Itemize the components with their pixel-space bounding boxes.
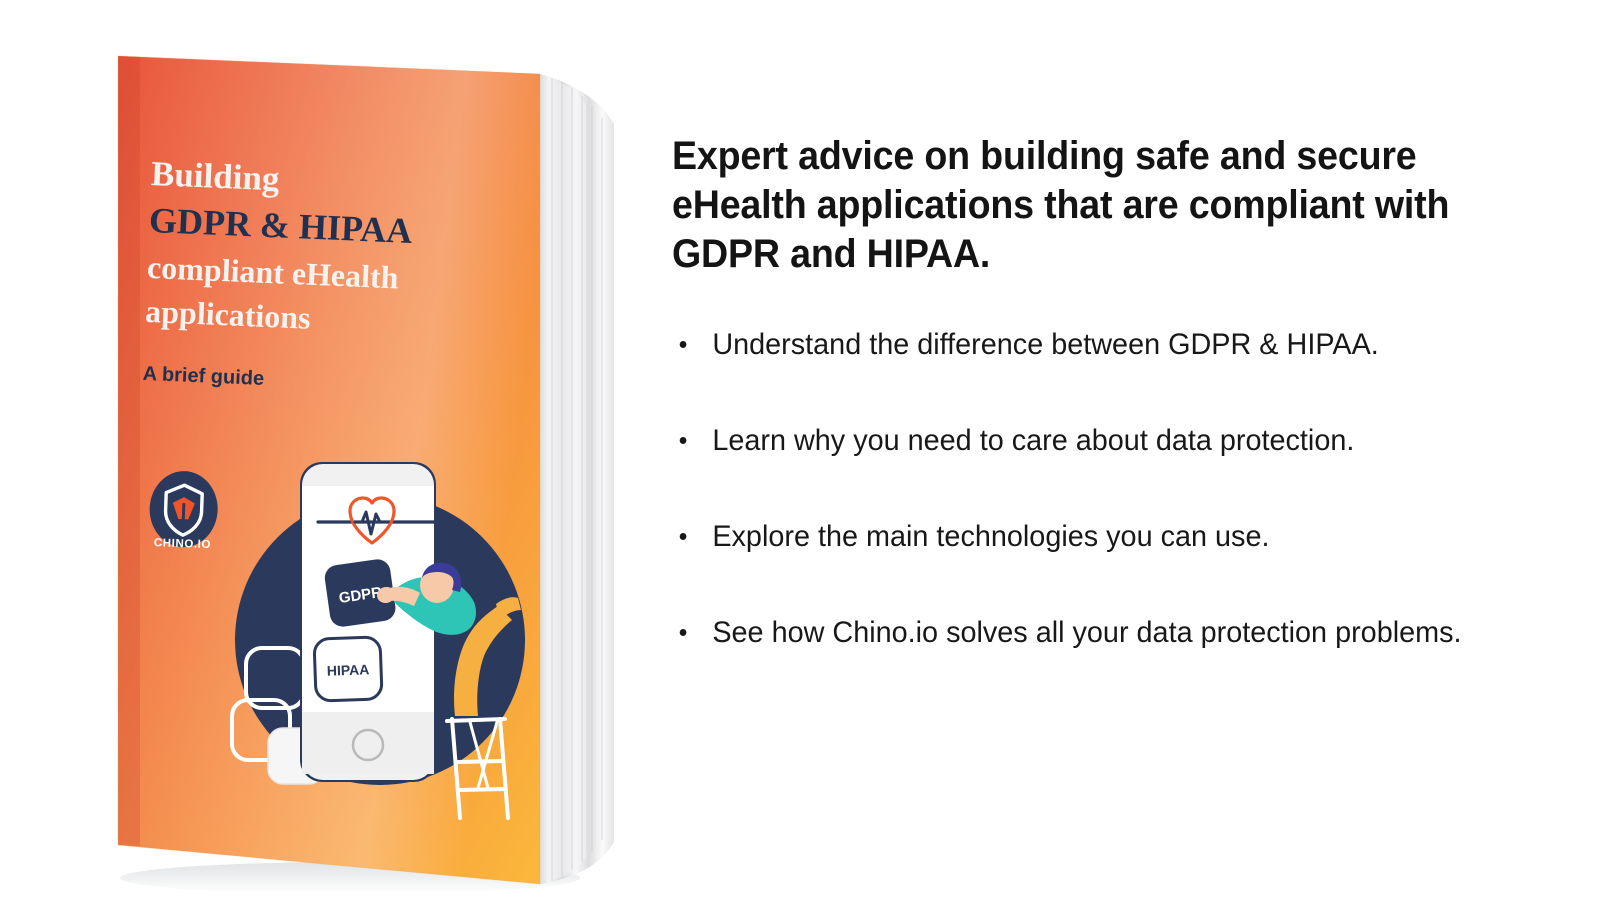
hipaa-tile-label: HIPAA (327, 661, 370, 678)
book-illustration: Building GDPR & HIPAA compliant eHealth … (0, 0, 660, 920)
list-item: Understand the difference between GDPR &… (672, 325, 1536, 365)
benefit-text: See how Chino.io solves all your data pr… (712, 616, 1461, 649)
hipaa-tile: HIPAA (314, 637, 382, 701)
benefit-text: Learn why you need to care about data pr… (712, 424, 1354, 457)
ebook-promo-banner: Building GDPR & HIPAA compliant eHealth … (0, 0, 1600, 920)
bullet-icon (680, 533, 687, 540)
benefit-text: Explore the main technologies you can us… (712, 520, 1269, 553)
bullet-icon (680, 341, 687, 348)
cover-title-line-1: Building (150, 154, 280, 198)
list-item: Explore the main technologies you can us… (672, 517, 1536, 557)
bullet-icon (680, 437, 687, 444)
list-item: See how Chino.io solves all your data pr… (672, 613, 1536, 653)
logo-wordmark: CHINO.IO (154, 537, 212, 551)
benefit-list: Understand the difference between GDPR &… (672, 325, 1572, 653)
bullet-icon (680, 629, 687, 636)
list-item: Learn why you need to care about data pr… (672, 421, 1536, 461)
benefit-text: Understand the difference between GDPR &… (712, 328, 1378, 361)
copy-column: Expert advice on building safe and secur… (672, 132, 1572, 653)
headline: Expert advice on building safe and secur… (672, 132, 1518, 278)
cover-title-line-4: applications (145, 293, 312, 336)
ebook-cover-mockup: Building GDPR & HIPAA compliant eHealth … (0, 0, 660, 920)
book-page-edges (540, 74, 614, 884)
